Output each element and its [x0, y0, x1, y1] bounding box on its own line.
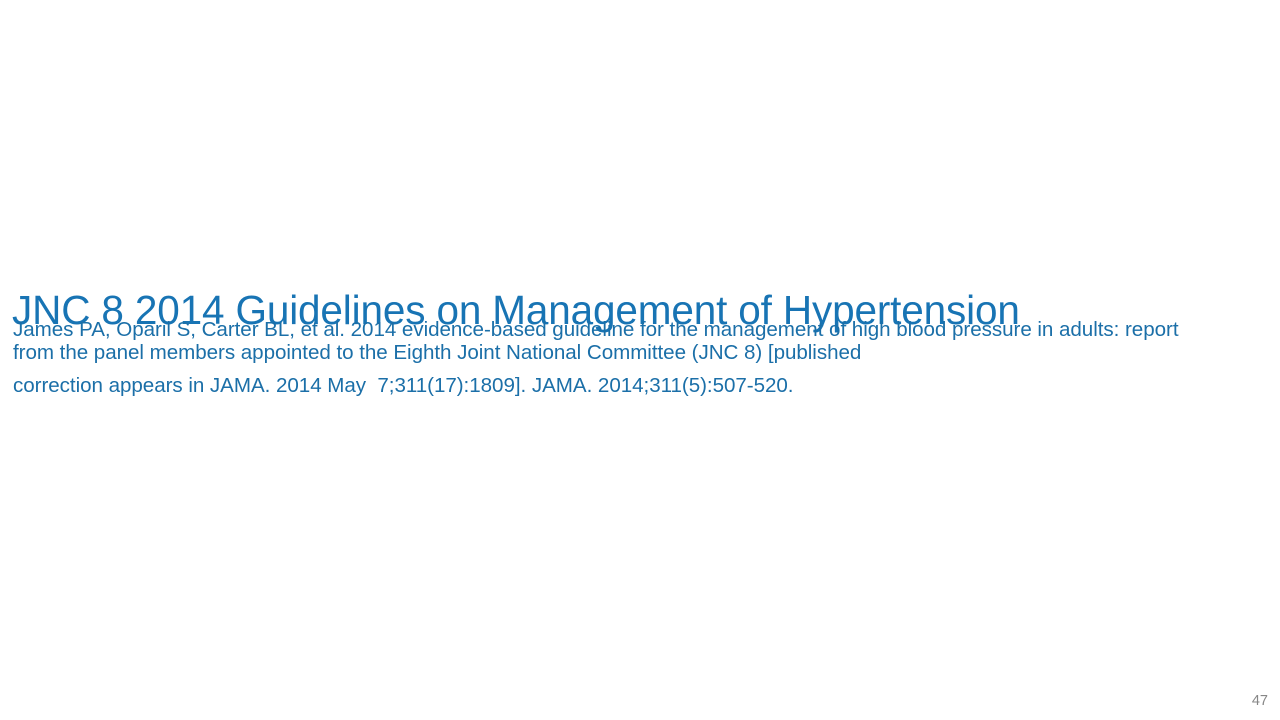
- page-number: 47: [1252, 693, 1268, 710]
- citation-block: James PA, Oparil S, Carter BL, et al. 20…: [13, 318, 1193, 398]
- slide-canvas: JNC 8 2014 Guidelines on Management of H…: [0, 0, 1280, 720]
- citation-paragraph-1: James PA, Oparil S, Carter BL, et al. 20…: [13, 318, 1193, 364]
- citation-paragraph-2: correction appears in JAMA. 2014 May 7;3…: [13, 374, 1193, 398]
